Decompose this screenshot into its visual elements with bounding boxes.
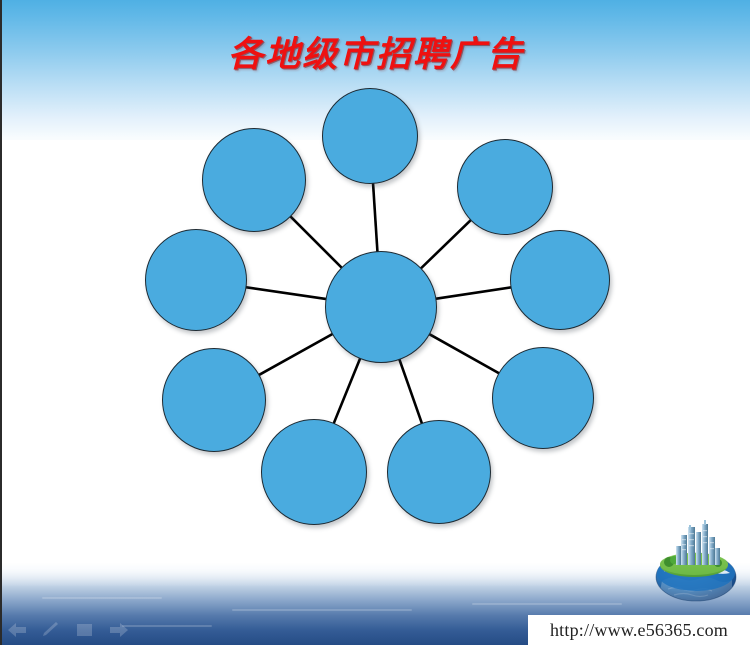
node-lower-right[interactable]	[492, 347, 594, 449]
sea-streak	[122, 625, 212, 627]
globe-city-logo	[648, 515, 744, 603]
slide-canvas: 各地级市招聘广告	[0, 0, 750, 645]
sea-streak	[232, 609, 412, 611]
pencil-icon	[40, 621, 62, 639]
node-right[interactable]	[510, 230, 610, 330]
node-bottom-left[interactable]	[261, 419, 367, 525]
watermark-url-bar: http://www.e56365.com	[528, 615, 750, 645]
back-arrow-icon	[6, 621, 28, 639]
node-lower-left[interactable]	[162, 348, 266, 452]
center-node[interactable]	[325, 251, 437, 363]
sea-streak	[42, 597, 162, 599]
forward-arrow-icon	[108, 621, 130, 639]
ghost-toolbar	[6, 621, 130, 639]
sea-streak	[472, 603, 622, 605]
node-upper-right[interactable]	[457, 139, 553, 235]
node-bottom-right[interactable]	[387, 420, 491, 524]
node-top[interactable]	[322, 88, 418, 184]
node-upper-left[interactable]	[202, 128, 306, 232]
watermark-url-text: http://www.e56365.com	[550, 620, 728, 641]
square-icon	[74, 621, 96, 639]
node-left[interactable]	[145, 229, 247, 331]
page-title: 各地级市招聘广告	[2, 26, 750, 77]
